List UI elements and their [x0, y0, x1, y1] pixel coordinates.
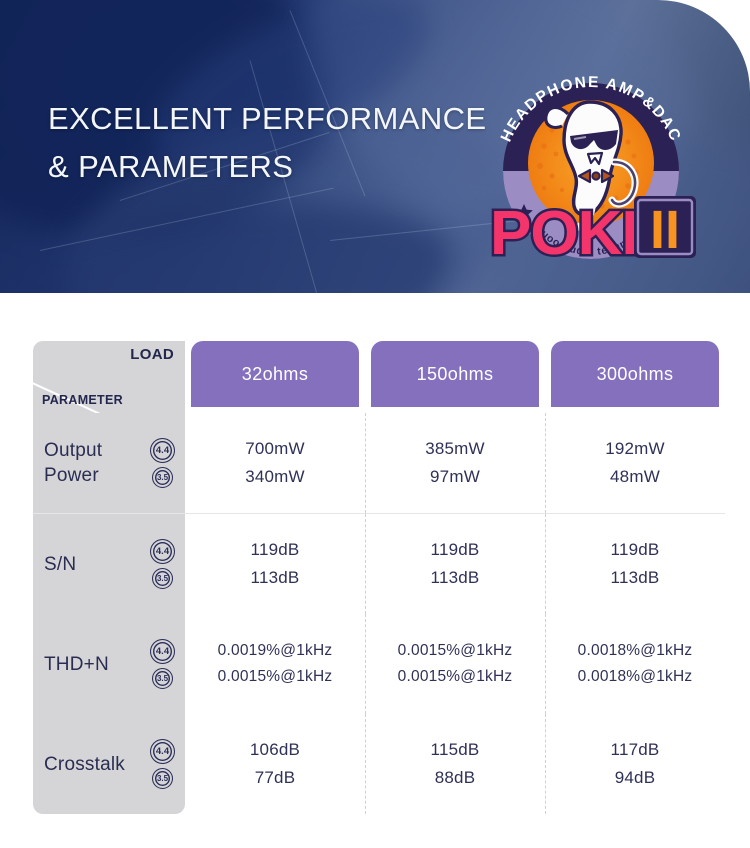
table-header-row: LOAD PARAMETER 32ohms 150ohms 300ohms [33, 341, 725, 413]
row-label-text: Crosstalk [44, 752, 125, 777]
load-axis-label: LOAD [130, 346, 174, 363]
value-3-5mm: 48mW [610, 467, 660, 487]
row-label-line-1: THD+N [44, 652, 109, 677]
column-header-32ohms: 32ohms [191, 341, 359, 407]
value-4-4mm: 119dB [251, 540, 300, 560]
page-title-line-2: & PARAMETERS [48, 143, 486, 191]
row-label-output-power: Output Power 4.4 3.5 [33, 413, 185, 513]
table-cell: 700mW 340mW [185, 413, 365, 513]
value-4-4mm: 192mW [605, 439, 665, 459]
connector-badges: 4.4 3.5 [150, 639, 175, 689]
page-title-line-1: EXCELLENT PERFORMANCE [48, 95, 486, 143]
table-cell: 192mW 48mW [545, 413, 725, 513]
badge-3-5mm-icon: 3.5 [152, 467, 173, 488]
row-label-crosstalk: Crosstalk 4.4 3.5 [33, 714, 185, 814]
table-cell: 119dB 113dB [545, 514, 725, 614]
table-cell: 385mW 97mW [365, 413, 545, 513]
column-header-cell: 300ohms [545, 341, 725, 413]
logo-version-badge: II [634, 196, 696, 260]
column-header-150ohms: 150ohms [371, 341, 539, 407]
value-3-5mm: 0.0015%@1kHz [218, 668, 333, 686]
row-label-thd-n: THD+N 4.4 3.5 [33, 614, 185, 714]
banner-texture-line [40, 188, 334, 251]
row-label-text: S/N [44, 552, 76, 577]
value-4-4mm: 119dB [431, 540, 480, 560]
column-header-cell: 150ohms [365, 341, 545, 413]
value-3-5mm: 77dB [255, 768, 296, 788]
table-cell: 115dB 88dB [365, 714, 545, 814]
column-header-300ohms: 300ohms [551, 341, 719, 407]
table-row: THD+N 4.4 3.5 0.0019%@1kHz 0.0015%@1kHz … [33, 613, 725, 713]
row-label-line-1: S/N [44, 552, 76, 577]
value-4-4mm: 0.0019%@1kHz [218, 642, 333, 660]
value-4-4mm: 385mW [425, 439, 485, 459]
value-4-4mm: 115dB [431, 740, 480, 760]
table-cell: 0.0019%@1kHz 0.0015%@1kHz [185, 614, 365, 714]
table-cell: 0.0018%@1kHz 0.0018%@1kHz [545, 614, 725, 714]
value-3-5mm: 340mW [245, 467, 305, 487]
connector-badges: 4.4 3.5 [150, 739, 175, 789]
table-cell: 119dB 113dB [185, 514, 365, 614]
value-3-5mm: 0.0015%@1kHz [398, 668, 513, 686]
badge-4-4mm-icon: 4.4 [150, 639, 175, 664]
value-3-5mm: 94dB [615, 768, 656, 788]
value-4-4mm: 0.0018%@1kHz [578, 642, 693, 660]
banner-texture-streak [0, 175, 469, 293]
value-4-4mm: 700mW [245, 439, 305, 459]
svg-text:II: II [650, 200, 680, 260]
page-title: EXCELLENT PERFORMANCE & PARAMETERS [48, 95, 486, 191]
value-3-5mm: 97mW [430, 467, 480, 487]
table-cell: 117dB 94dB [545, 714, 725, 814]
specification-table: LOAD PARAMETER 32ohms 150ohms 300ohms Ou… [33, 341, 725, 813]
table-cell: 0.0015%@1kHz 0.0015%@1kHz [365, 614, 545, 714]
row-label-text: Output Power [44, 438, 102, 488]
value-3-5mm: 113dB [611, 568, 660, 588]
value-3-5mm: 113dB [251, 568, 300, 588]
table-cell: 106dB 77dB [185, 714, 365, 814]
table-corner-header: LOAD PARAMETER [33, 341, 185, 413]
badge-3-5mm-icon: 3.5 [152, 668, 173, 689]
row-label-line-1: Output [44, 438, 102, 463]
parameter-axis-label: PARAMETER [42, 393, 123, 407]
badge-3-5mm-icon: 3.5 [152, 768, 173, 789]
connector-badges: 4.4 3.5 [150, 539, 175, 589]
table-row: Crosstalk 4.4 3.5 106dB 77dB 115dB 88dB … [33, 713, 725, 813]
row-label-line-2: Power [44, 463, 102, 488]
value-3-5mm: 88dB [435, 768, 476, 788]
table-row: S/N 4.4 3.5 119dB 113dB 119dB 113dB 119d… [33, 513, 725, 613]
badge-3-5mm-icon: 3.5 [152, 568, 173, 589]
badge-4-4mm-icon: 4.4 [150, 739, 175, 764]
value-4-4mm: 117dB [611, 740, 660, 760]
row-label-signal-to-noise: S/N 4.4 3.5 [33, 514, 185, 614]
value-3-5mm: 113dB [431, 568, 480, 588]
value-4-4mm: 119dB [611, 540, 660, 560]
row-label-line-1: Crosstalk [44, 752, 125, 777]
connector-badges: 4.4 3.5 [150, 438, 175, 488]
badge-4-4mm-icon: 4.4 [150, 539, 175, 564]
spec-page: EXCELLENT PERFORMANCE & PARAMETERS [0, 0, 750, 848]
value-4-4mm: 106dB [250, 740, 300, 760]
table-cell: 119dB 113dB [365, 514, 545, 614]
value-4-4mm: 0.0015%@1kHz [398, 642, 513, 660]
row-label-text: THD+N [44, 652, 109, 677]
table-row: Output Power 4.4 3.5 700mW 340mW 385mW 9… [33, 413, 725, 513]
badge-4-4mm-icon: 4.4 [150, 438, 175, 463]
value-3-5mm: 0.0018%@1kHz [578, 668, 693, 686]
column-header-cell: 32ohms [185, 341, 365, 413]
poke-ii-logo: HEADPHONE AMP&DAC xDuoo Audio technology… [482, 58, 700, 263]
